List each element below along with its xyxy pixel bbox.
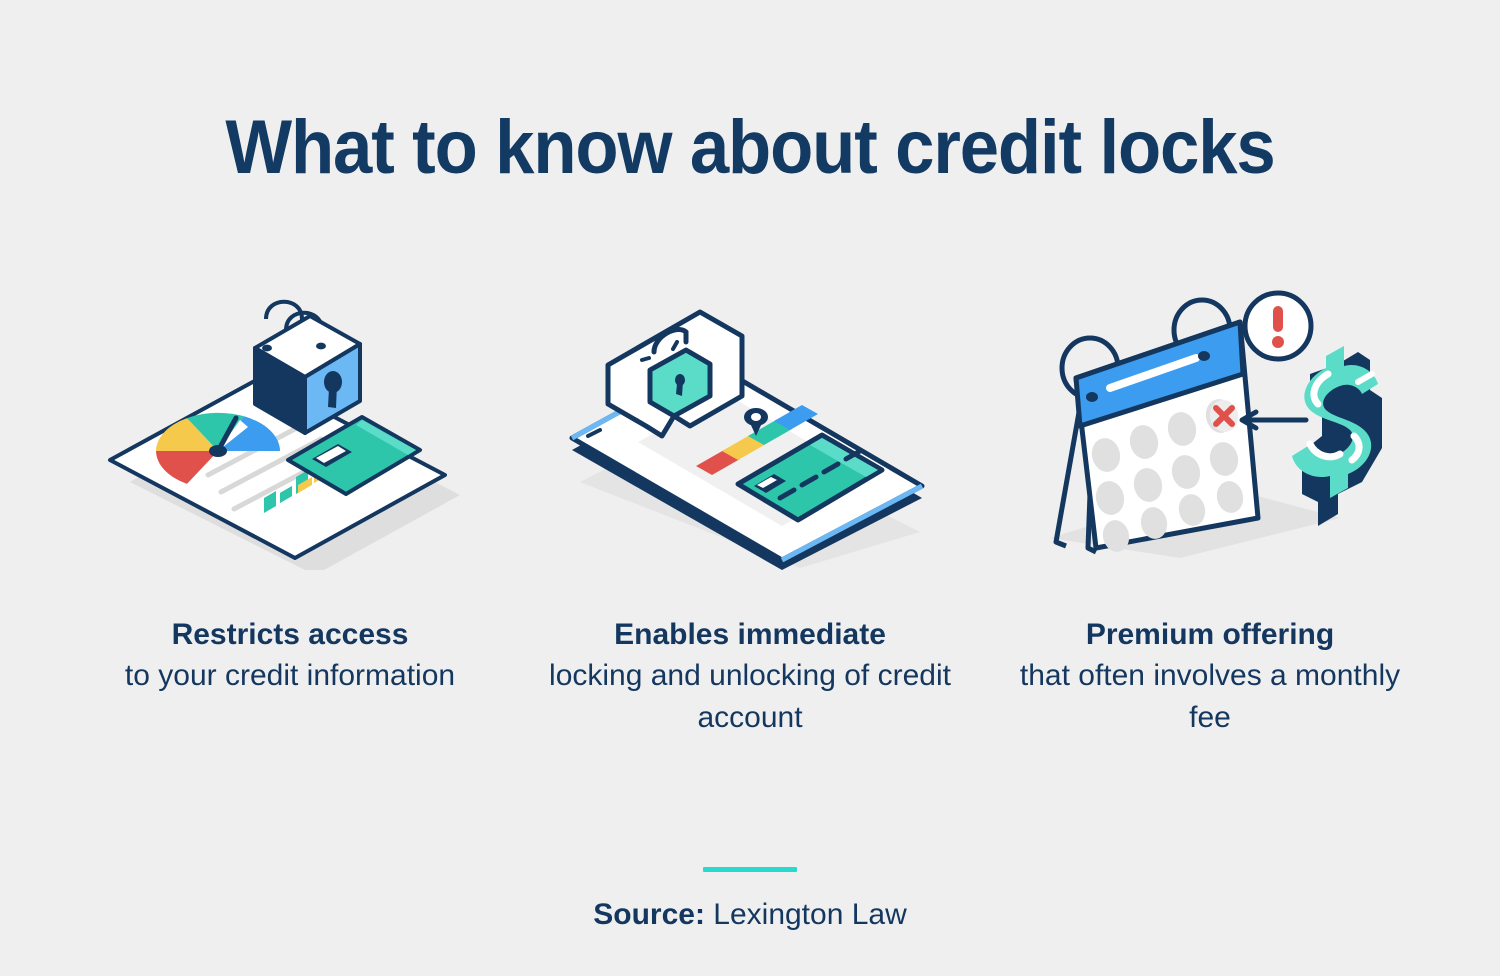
column-restricts-access: Restricts access to your credit informat… (70, 270, 510, 697)
source-line: Source: Lexington Law (0, 898, 1500, 932)
caption-enables-immediate: Enables immediate locking and unlocking … (540, 614, 960, 738)
caption-bold: Enables immediate (540, 614, 960, 655)
columns-container: Restricts access to your credit informat… (70, 270, 1430, 738)
caption-rest: that often involves a monthly fee (1000, 655, 1420, 738)
caption-rest: to your credit information (80, 655, 500, 696)
caption-premium-offering: Premium offering that often involves a m… (1000, 614, 1420, 738)
footer-divider (703, 867, 797, 872)
footer: Source: Lexington Law (0, 867, 1500, 932)
infographic-page: What to know about credit locks (0, 0, 1500, 976)
caption-restricts-access: Restricts access to your credit informat… (80, 614, 500, 697)
document-pie-chart-padlock-icon (90, 270, 490, 570)
column-premium-offering: Premium offering that often involves a m… (990, 270, 1430, 738)
caption-rest: locking and unlocking of credit account (540, 655, 960, 738)
smartphone-lock-bubble-credit-card-icon (550, 270, 950, 570)
source-label: Source: (593, 898, 705, 931)
source-value: Lexington Law (713, 898, 906, 931)
caption-bold: Restricts access (80, 614, 500, 655)
page-title: What to know about credit locks (53, 108, 1448, 188)
calendar-dollar-sign-warning-icon (1010, 270, 1410, 570)
column-enables-immediate: Enables immediate locking and unlocking … (530, 270, 970, 738)
caption-bold: Premium offering (1000, 614, 1420, 655)
